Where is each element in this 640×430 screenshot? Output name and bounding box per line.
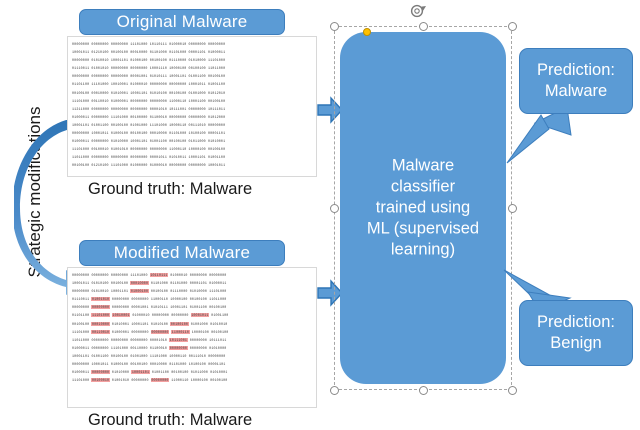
byte-group: 00000000 (131, 378, 148, 382)
prediction-benign-line-1: Prediction: (537, 312, 615, 333)
byte-group: 00000000 (112, 297, 129, 301)
byte-group: 11101000 (72, 378, 89, 382)
byte-group: 10001101 (170, 305, 187, 309)
modified-byte-highlight: 01000100 (130, 289, 148, 293)
selection-handle-top-center[interactable] (419, 22, 428, 31)
byte-group: 01001010 (112, 378, 129, 382)
byte-group: 01100010 (150, 346, 167, 350)
classifier-line-2: classifier (344, 177, 502, 198)
byte-group: 00000000 (152, 313, 169, 317)
modified-malware-banner-label: Modified Malware (114, 243, 250, 263)
byte-group: 01000100 (111, 362, 128, 366)
byte-group: 01001100 (152, 370, 169, 374)
modified-byte-highlight: 01001010 (91, 297, 109, 301)
byte-group: 00000000 (171, 313, 188, 317)
code-row: 11101000 00100010 01001010 00000000 0000… (72, 145, 312, 153)
byte-group: 00110000 (130, 346, 147, 350)
byte-group: 01001100 (91, 354, 108, 358)
byte-group: 11101000 (150, 354, 167, 358)
byte-group: 10111011 (209, 338, 226, 342)
byte-group: 01010010 (210, 322, 227, 326)
byte-group: 01110011 (72, 297, 89, 301)
byte-group: 00100100 (72, 322, 89, 326)
code-row: 01000011 00000000 11101000 00100000 0110… (72, 113, 312, 121)
modified-byte-highlight: 11101000 (91, 313, 109, 317)
byte-group: 01000001 (112, 330, 129, 334)
code-row: 01110011 01001010 00000000 00000000 1100… (72, 295, 312, 303)
code-row: 11011000 00000000 00000000 00000000 0000… (72, 336, 312, 344)
byte-group: 01001100 (190, 305, 207, 309)
code-row: 00100100 00010000 01010001 10001101 0101… (72, 89, 312, 97)
byte-group: 10001011 (72, 281, 89, 285)
byte-group: 00100100 (171, 370, 188, 374)
byte-group: 01010000 (112, 370, 129, 374)
byte-group: 00000000 (72, 273, 89, 277)
modified-malware-banner[interactable]: Modified Malware (79, 240, 285, 266)
byte-group: 00000000 (91, 338, 108, 342)
byte-group: 01101000 (151, 281, 168, 285)
code-row: 10001011 01210100 00100100 00010000 0110… (72, 48, 312, 56)
byte-group: 00000000 (112, 305, 129, 309)
byte-group: 10000110 (169, 354, 186, 358)
byte-group: 00100100 (111, 281, 128, 285)
code-row: 11211000 00000000 00000000 00000000 0000… (72, 105, 312, 113)
byte-group: 00111010 (189, 354, 206, 358)
modified-ground-truth-caption: Ground truth: Malware (88, 411, 252, 430)
selection-handle-top-right[interactable] (508, 22, 517, 31)
byte-group: 00100100 (111, 354, 128, 358)
modified-byte-highlight: 00010000 (91, 322, 109, 326)
byte-group: 11011000 (209, 297, 226, 301)
byte-group: 11101000 (111, 346, 128, 350)
byte-group: 00000000 (111, 338, 128, 342)
byte-group: 00010000 (150, 362, 167, 366)
rotate-handle-icon[interactable] (409, 2, 427, 20)
original-malware-code-block: 00000000 00000000 00000000 11101000 1011… (67, 36, 317, 177)
modified-byte-highlight: 00000000 (169, 346, 187, 350)
byte-group: 00000000 (190, 346, 207, 350)
classifier-line-1: Malware (344, 156, 502, 177)
shape-adjust-handle[interactable] (363, 28, 371, 36)
byte-group: 01000011 (72, 346, 89, 350)
modified-byte-highlight: 10001101 (131, 370, 149, 374)
code-row: 00100100 00010000 01010001 10001101 0101… (72, 320, 312, 328)
code-row: 01101100 11101000 10010001 01000010 0000… (72, 80, 312, 88)
byte-group: 00000000 (190, 338, 207, 342)
modified-byte-highlight: 10111001 (169, 338, 187, 342)
code-row: 00100100 01210100 11101000 01000000 0100… (72, 161, 312, 169)
code-row: 00000000 00000000 00000000 11101000 1011… (72, 271, 312, 279)
prediction-malware-callout[interactable]: Prediction: Malware (519, 48, 633, 114)
byte-group: 00000000 (72, 362, 89, 366)
code-row: 00000000 01010010 10001101 01000100 0010… (72, 56, 312, 64)
prediction-malware-line-1: Prediction: (537, 60, 615, 81)
byte-group: 01001100 (211, 313, 228, 317)
byte-group: 00000000 (72, 305, 89, 309)
byte-group: 01010001 (112, 322, 129, 326)
byte-group: 10001101 (111, 289, 128, 293)
byte-group: 10001101 (131, 322, 148, 326)
code-row: 01000011 00000000 11101000 00110000 0110… (72, 344, 312, 352)
selection-handle-middle-right[interactable] (508, 204, 517, 213)
byte-group: 01011000 (191, 370, 208, 374)
byte-group: 00000000 (111, 273, 128, 277)
byte-group: 01010100 (91, 281, 108, 285)
byte-group: 01000011 (72, 370, 89, 374)
original-malware-banner[interactable]: Original Malware (79, 9, 285, 35)
code-row: 11101000 00110010 01000001 00000000 0000… (72, 97, 312, 105)
modified-byte-highlight: 00100100 (170, 322, 188, 326)
byte-group: 01001000 (191, 322, 208, 326)
modified-byte-highlight: 10110111 (150, 273, 168, 277)
modified-byte-highlight: 11000110 (171, 330, 189, 334)
byte-group: 11101000 (72, 330, 89, 334)
byte-group: 10001011 (91, 362, 108, 366)
code-row: 00000000 10001011 01000100 00100100 0001… (72, 360, 312, 368)
modified-byte-highlight: 10001011 (191, 313, 209, 317)
byte-group: 00001001 (131, 305, 148, 309)
byte-group: 10000100 (191, 378, 208, 382)
code-row: 00000000 00000000 00000000 11101000 1011… (72, 40, 312, 48)
byte-group: 00000000 (91, 273, 108, 277)
byte-group: 01010010 (91, 289, 108, 293)
classifier-line-4: ML (supervised (344, 219, 502, 240)
byte-group: 00100100 (211, 330, 228, 334)
modified-byte-highlight: 00000000 (151, 378, 169, 382)
selection-handle-bottom-left[interactable] (330, 386, 339, 395)
byte-group: 01010000 (190, 289, 207, 293)
byte-group: 11101000 (130, 273, 147, 277)
original-ground-truth-caption: Ground truth: Malware (88, 180, 252, 199)
code-row: 00000000 00000000 00000000 00001001 0101… (72, 72, 312, 80)
byte-group: 00000000 (208, 354, 225, 358)
code-row: 00000000 10001011 01000100 00100100 0001… (72, 129, 312, 137)
byte-group: 01000011 (209, 281, 226, 285)
modified-byte-highlight: 00000000 (151, 330, 169, 334)
byte-group: 00000000 (131, 297, 148, 301)
byte-group: 00100100 (210, 378, 227, 382)
byte-group: 00100100 (151, 289, 168, 293)
byte-group: 00001010 (150, 338, 167, 342)
byte-group: 00000000 (209, 273, 226, 277)
code-row: 01000011 00000000 01010000 10001101 0100… (72, 368, 312, 376)
modified-byte-highlight: 00100010 (91, 378, 109, 382)
byte-group: 00100100 (130, 362, 147, 366)
byte-group: 00000000 (130, 338, 147, 342)
byte-group: 11000110 (171, 378, 188, 382)
byte-group: 10001101 (72, 354, 89, 358)
byte-group: 01110000 (170, 289, 187, 293)
byte-group: 01010100 (151, 322, 168, 326)
modified-byte-highlight: 10010001 (112, 313, 130, 317)
byte-group: 10100100 (189, 362, 206, 366)
byte-group: 00001101 (208, 362, 225, 366)
byte-group: 01000010 (170, 273, 187, 277)
modified-byte-highlight: 00010000 (130, 281, 148, 285)
byte-group: 00000000 (131, 330, 148, 334)
classifier-line-5: learning) (344, 240, 502, 261)
original-malware-banner-label: Original Malware (117, 12, 248, 32)
byte-group: 10000100 (192, 330, 209, 334)
code-row: 11101000 00100010 01001010 00000000 0000… (72, 376, 312, 384)
modified-byte-highlight: 00110010 (91, 330, 109, 334)
modified-byte-highlight: 00000000 (91, 370, 109, 374)
code-row: 11011000 00000000 00000000 00000000 0000… (72, 153, 312, 161)
byte-group: 01010001 (210, 370, 227, 374)
prediction-malware-callout-tail (505, 105, 575, 172)
code-row: 10001101 01001100 00100100 01001000 1110… (72, 121, 312, 129)
byte-group: 01010111 (151, 305, 168, 309)
malware-classifier-shape[interactable]: Malwareclassifiertrained usingML (superv… (340, 32, 506, 384)
malware-classifier-text: Malwareclassifiertrained usingML (superv… (340, 156, 506, 261)
selection-handle-middle-left[interactable] (330, 204, 339, 213)
byte-group: 11000110 (151, 297, 168, 301)
prediction-malware-line-2: Malware (537, 81, 615, 102)
byte-group: 00001101 (190, 281, 207, 285)
code-row: 10001011 01010100 00100100 00010000 0110… (72, 279, 312, 287)
byte-group: 01101000 (169, 362, 186, 366)
byte-group: 00100100 (209, 305, 226, 309)
byte-group: 01001000 (130, 354, 147, 358)
classifier-line-3: trained using (344, 198, 502, 219)
prediction-benign-callout[interactable]: Prediction: Benign (519, 300, 633, 366)
code-row: 00000000 00000000 00000000 00001001 0101… (72, 303, 312, 311)
byte-group: 00000000 (91, 346, 108, 350)
modified-malware-code-block: 00000000 00000000 00000000 11101000 1011… (67, 267, 317, 408)
byte-group: 10000100 (170, 297, 187, 301)
byte-group: 00000000 (190, 273, 207, 277)
selection-handle-bottom-right[interactable] (508, 386, 517, 395)
byte-group: 01101000 (170, 281, 187, 285)
byte-group: 01000010 (132, 313, 149, 317)
byte-group: 01101100 (72, 313, 89, 317)
code-row: 01110011 01001010 00000000 00000000 1000… (72, 64, 312, 72)
selection-handle-top-left[interactable] (330, 22, 339, 31)
byte-group: 00100100 (190, 297, 207, 301)
modified-byte-highlight: 00000000 (91, 305, 109, 309)
byte-group: 01010000 (209, 346, 226, 350)
prediction-benign-line-2: Benign (537, 333, 615, 354)
code-row: 10001101 01001100 00100100 01001000 1110… (72, 352, 312, 360)
byte-group: 11101000 (209, 289, 226, 293)
byte-group: 11011000 (72, 338, 89, 342)
code-row: 11101000 00110010 01000001 00000000 0000… (72, 328, 312, 336)
code-row: 00000000 01010010 10001101 01000100 0010… (72, 287, 312, 295)
selection-handle-bottom-center[interactable] (419, 386, 428, 395)
code-row: 01101100 11101000 10010001 01000010 0000… (72, 311, 312, 319)
byte-group: 00000000 (72, 289, 89, 293)
code-row: 01000011 00000000 01010000 10001101 0100… (72, 137, 312, 145)
